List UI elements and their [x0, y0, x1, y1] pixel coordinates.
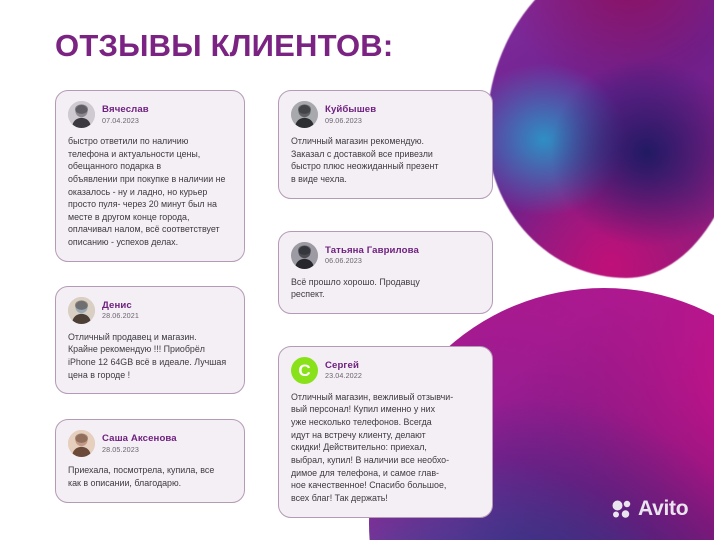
- review-header: Саша Аксенова28.05.2023: [68, 430, 232, 457]
- review-author: Сергей: [325, 361, 362, 371]
- review-date: 28.05.2023: [102, 446, 177, 454]
- review-header: Денис28.06.2021: [68, 297, 232, 324]
- review-header: Татьяна Гаврилова06.06.2023: [291, 242, 480, 269]
- review-card[interactable]: Саша Аксенова28.05.2023Приехала, посмотр…: [55, 419, 245, 502]
- review-meta: Денис28.06.2021: [102, 301, 139, 320]
- avatar: [68, 430, 95, 457]
- avito-wordmark: Avito: [638, 498, 688, 519]
- avatar: [291, 101, 318, 128]
- reviews-poster: ОТЗЫВЫ КЛИЕНТОВ: Вячеслав07.04.2023быстр…: [0, 0, 714, 540]
- review-card[interactable]: Куйбышев09.06.2023Отличный магазин реком…: [278, 90, 493, 199]
- reviews-column-left: Вячеслав07.04.2023быстро ответили по нал…: [55, 90, 245, 503]
- reviews-column-right: Куйбышев09.06.2023Отличный магазин реком…: [278, 90, 493, 518]
- review-text: Приехала, посмотрела, купила, все как в …: [68, 464, 232, 489]
- gradient-blob-top-right: [487, 0, 714, 278]
- review-date: 07.04.2023: [102, 117, 149, 125]
- review-meta: Вячеслав07.04.2023: [102, 105, 149, 124]
- review-author: Вячеслав: [102, 105, 149, 115]
- avatar: [68, 297, 95, 324]
- gradient-circle-decoration: [519, 309, 591, 381]
- avatar: [68, 101, 95, 128]
- review-date: 23.04.2022: [325, 372, 362, 380]
- review-card[interactable]: Татьяна Гаврилова06.06.2023Всё прошло хо…: [278, 231, 493, 314]
- review-text: Всё прошло хорошо. Продавцу респект.: [291, 276, 480, 301]
- review-header: Вячеслав07.04.2023: [68, 101, 232, 128]
- avito-logo: Avito: [612, 498, 688, 519]
- review-author: Татьяна Гаврилова: [325, 246, 419, 256]
- review-author: Денис: [102, 301, 139, 311]
- review-date: 28.06.2021: [102, 312, 139, 320]
- review-card[interactable]: Вячеслав07.04.2023быстро ответили по нал…: [55, 90, 245, 262]
- review-text: Отличный продавец и магазин. Крайне реко…: [68, 331, 232, 382]
- review-meta: Саша Аксенова28.05.2023: [102, 434, 177, 453]
- avatar-initial: С: [291, 357, 318, 384]
- avatar: [291, 242, 318, 269]
- review-meta: Сергей23.04.2022: [325, 361, 362, 380]
- page-title: ОТЗЫВЫ КЛИЕНТОВ:: [55, 28, 393, 64]
- review-text: Отличный магазин, вежливый отзывчи- вый …: [291, 391, 480, 505]
- avito-dots-icon: [612, 500, 633, 518]
- review-author: Саша Аксенова: [102, 434, 177, 444]
- review-card[interactable]: Денис28.06.2021Отличный продавец и магаз…: [55, 286, 245, 395]
- review-header: Куйбышев09.06.2023: [291, 101, 480, 128]
- review-text: быстро ответили по наличию телефона и ак…: [68, 135, 232, 249]
- review-header: ССергей23.04.2022: [291, 357, 480, 384]
- avatar: С: [291, 357, 318, 384]
- review-date: 06.06.2023: [325, 257, 419, 265]
- review-text: Отличный магазин рекомендую. Заказал с д…: [291, 135, 480, 186]
- review-date: 09.06.2023: [325, 117, 376, 125]
- review-meta: Куйбышев09.06.2023: [325, 105, 376, 124]
- review-author: Куйбышев: [325, 105, 376, 115]
- review-card[interactable]: ССергей23.04.2022Отличный магазин, вежли…: [278, 346, 493, 518]
- review-meta: Татьяна Гаврилова06.06.2023: [325, 246, 419, 265]
